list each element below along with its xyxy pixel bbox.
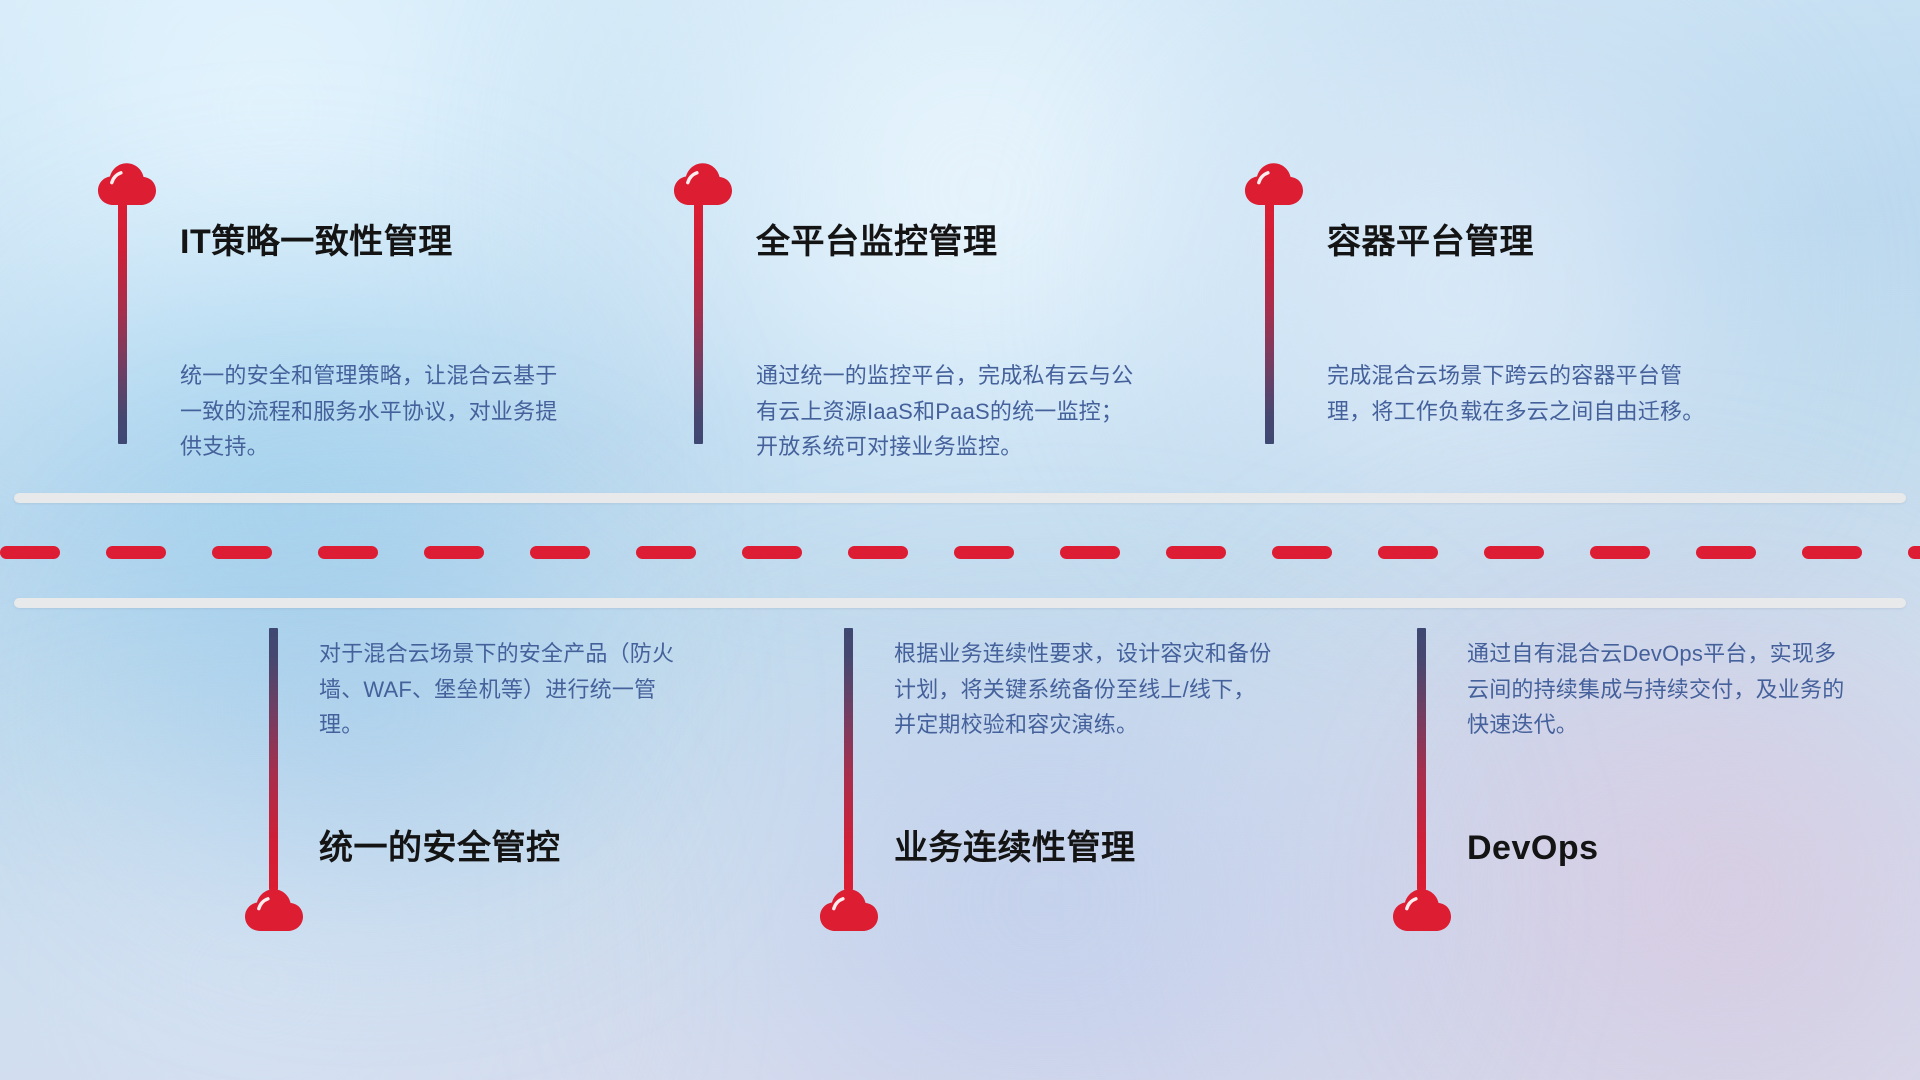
divider-dash (424, 546, 484, 559)
divider-dash (1378, 546, 1438, 559)
divider-dash (1696, 546, 1756, 559)
card-body: 统一的安全和管理策略，让混合云基于一致的流程和服务水平协议，对业务提供支持。 (180, 358, 560, 465)
divider-dash (318, 546, 378, 559)
connector-stem (118, 204, 127, 444)
card-body: 根据业务连续性要求，设计容灾和备份计划，将关键系统备份至线上/线下，并定期校验和… (894, 636, 1274, 743)
divider-dash (0, 546, 60, 559)
connector-stem (269, 628, 278, 890)
card-body: 通过自有混合云DevOps平台，实现多云间的持续集成与持续交付，及业务的快速迭代… (1467, 636, 1847, 743)
connector-stem (694, 204, 703, 444)
divider-dash (954, 546, 1014, 559)
cloud-icon (96, 160, 158, 206)
divider-dash (1802, 546, 1862, 559)
divider-dash (1484, 546, 1544, 559)
divider-dash (1272, 546, 1332, 559)
card-body: 对于混合云场景下的安全产品（防火墙、WAF、堡垒机等）进行统一管理。 (319, 636, 699, 743)
divider-dash (530, 546, 590, 559)
card-title: 统一的安全管控 (319, 828, 561, 869)
divider-dash (106, 546, 166, 559)
card-title: 全平台监控管理 (756, 222, 998, 263)
divider-dash (1908, 546, 1920, 559)
divider-dash (1590, 546, 1650, 559)
cloud-icon (1391, 886, 1453, 932)
cloud-icon (1243, 160, 1305, 206)
card-title: 业务连续性管理 (894, 828, 1136, 869)
card-title: 容器平台管理 (1327, 222, 1534, 263)
divider-rail-top (14, 493, 1906, 503)
connector-stem (1265, 204, 1274, 444)
connector-stem (844, 628, 853, 890)
cloud-icon (243, 886, 305, 932)
infographic-canvas: IT策略一致性管理 统一的安全和管理策略，让混合云基于一致的流程和服务水平协议，… (0, 0, 1920, 1080)
divider-dash (636, 546, 696, 559)
connector-stem (1417, 628, 1426, 890)
divider-dash (742, 546, 802, 559)
cloud-icon (672, 160, 734, 206)
divider-dash (212, 546, 272, 559)
divider-dash (848, 546, 908, 559)
divider (0, 493, 1920, 608)
card-title: IT策略一致性管理 (180, 222, 453, 263)
card-body: 通过统一的监控平台，完成私有云与公有云上资源IaaS和PaaS的统一监控；开放系… (756, 358, 1136, 465)
card-title: DevOps (1467, 828, 1599, 869)
divider-dashed-line (0, 546, 1920, 559)
divider-rail-bottom (14, 598, 1906, 608)
divider-dash (1060, 546, 1120, 559)
divider-dash (1166, 546, 1226, 559)
cloud-icon (818, 886, 880, 932)
card-body: 完成混合云场景下跨云的容器平台管理，将工作负载在多云之间自由迁移。 (1327, 358, 1707, 429)
